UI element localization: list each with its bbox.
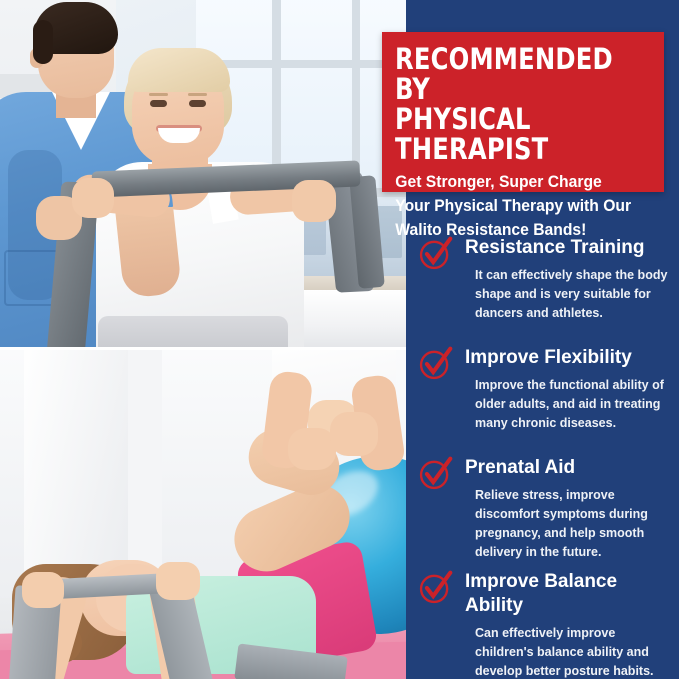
photo-girl-on-mat-with-exercise-ball <box>0 350 407 679</box>
page-title: Recommended by Physical Therapist <box>382 32 644 164</box>
feature-title: Prenatal Aid <box>465 448 675 480</box>
headline-line-1: Recommended by <box>395 42 613 106</box>
feature-description: Improve the functional ability of older … <box>475 376 675 433</box>
patient-eyebrow <box>188 93 207 96</box>
feature-title: Improve Balance Ability <box>465 562 675 618</box>
patient-hand <box>72 178 114 218</box>
feature-item-improve-flexibility: Improve Flexibility Improve the function… <box>417 338 675 448</box>
patient-eyebrow <box>149 93 168 96</box>
patient-hand <box>292 180 336 222</box>
feature-title: Resistance Training <box>465 228 675 260</box>
feature-title: Improve Flexibility <box>465 338 675 370</box>
red-check-circle-icon <box>417 346 453 382</box>
feature-list: Resistance Training It can effectively s… <box>417 228 675 679</box>
red-check-circle-icon <box>417 456 453 492</box>
headline-line-2: Physical Therapist <box>395 104 633 164</box>
feature-description: Relieve stress, improve discomfort sympt… <box>475 486 675 562</box>
red-check-circle-icon <box>417 570 453 606</box>
window-mullion <box>196 60 407 68</box>
photo-therapist-assisting-senior-woman <box>0 0 407 347</box>
therapist-hand <box>288 428 336 470</box>
headline-banner: Recommended by Physical Therapist Get St… <box>382 32 664 192</box>
feature-description: Can effectively improve children's balan… <box>475 624 675 679</box>
photo-column <box>0 0 407 679</box>
patient-eye <box>189 100 206 107</box>
feature-item-resistance-training: Resistance Training It can effectively s… <box>417 228 675 338</box>
red-check-circle-icon <box>417 236 453 272</box>
girl-hand <box>156 562 200 600</box>
patient-hair-top <box>128 48 230 92</box>
therapist-hair-side <box>33 20 53 64</box>
therapist-hand <box>330 412 378 456</box>
girl-hand <box>22 572 64 608</box>
feature-description: It can effectively shape the body shape … <box>475 266 675 323</box>
feature-item-prenatal-aid: Prenatal Aid Relieve stress, improve dis… <box>417 448 675 562</box>
patient-pants <box>98 316 288 347</box>
patient-eye <box>150 100 167 107</box>
product-infographic: Recommended by Physical Therapist Get St… <box>0 0 679 679</box>
feature-item-improve-balance-ability: Improve Balance Ability Can effectively … <box>417 562 675 679</box>
